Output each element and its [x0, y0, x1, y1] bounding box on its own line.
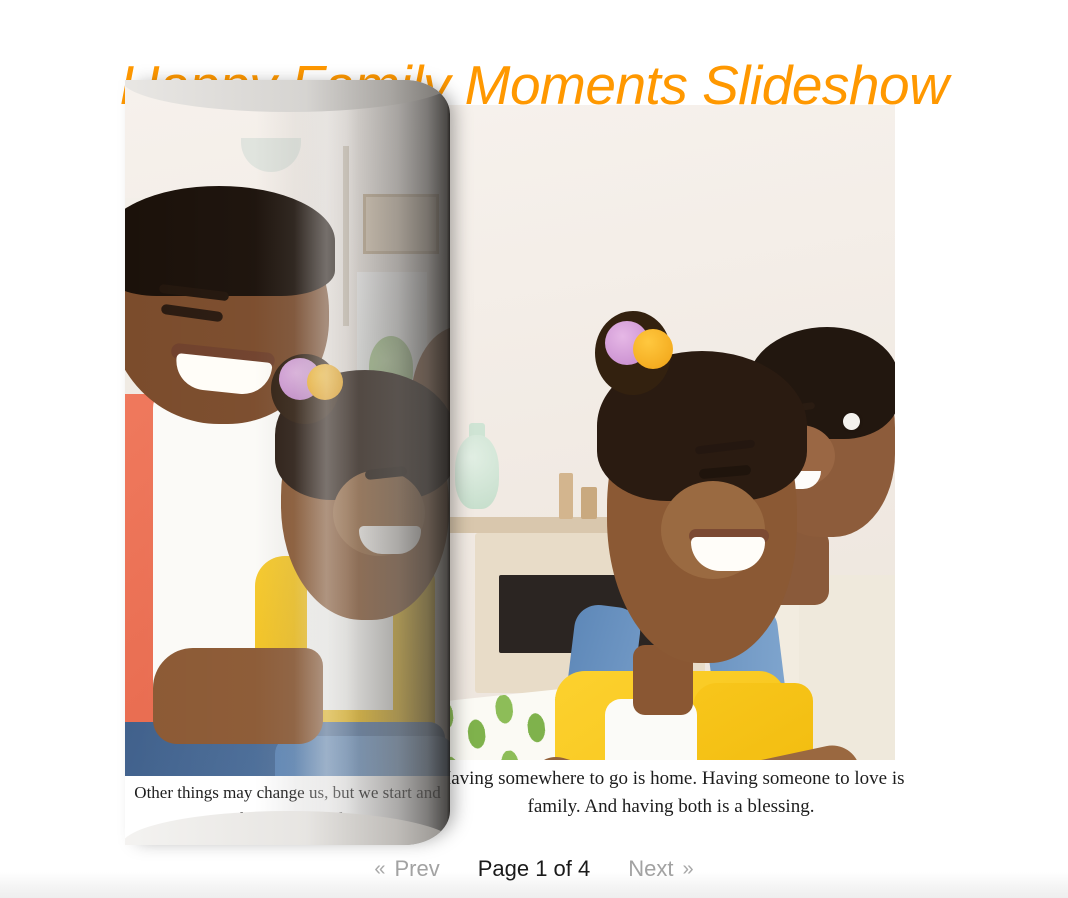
- candle-tall: [559, 473, 573, 519]
- candle-short: [581, 487, 597, 519]
- prev-button-label: Prev: [394, 856, 439, 882]
- girl-cardigan-sleeve: [693, 683, 813, 760]
- slide-photo-left: [125, 86, 450, 776]
- flipbook: Having somewhere to go is home. Having s…: [0, 0, 1068, 860]
- page-indicator: Page 1 of 4: [478, 856, 591, 882]
- green-glass-vase: [455, 435, 499, 509]
- orange-hair-bobble-icon: [307, 364, 343, 400]
- mother-earring: [843, 413, 860, 430]
- orange-hair-bobble-icon: [633, 329, 673, 369]
- father-hand: [153, 648, 323, 744]
- next-button-label: Next: [628, 856, 673, 882]
- slideshow-app: Happy Family Moments Slideshow: [0, 0, 1068, 898]
- next-button[interactable]: Next »: [624, 854, 697, 884]
- slide-page-right[interactable]: Having somewhere to go is home. Having s…: [447, 105, 895, 845]
- slide-caption-right: Having somewhere to go is home. Having s…: [437, 765, 905, 820]
- chevron-right-icon: »: [683, 858, 694, 881]
- slideshow-controls: « Prev Page 1 of 4 Next »: [0, 854, 1068, 884]
- slide-photo-right: [447, 105, 895, 760]
- photo-artwork-left: [125, 86, 450, 776]
- photo-artwork-right: [447, 105, 895, 760]
- prev-button[interactable]: « Prev: [370, 854, 443, 884]
- father-hair: [125, 186, 335, 296]
- slide-page-left[interactable]: Other things may change us, but we start…: [125, 80, 450, 845]
- door-edge: [343, 146, 349, 326]
- chevron-left-icon: «: [374, 858, 385, 881]
- picture-frame: [363, 194, 439, 254]
